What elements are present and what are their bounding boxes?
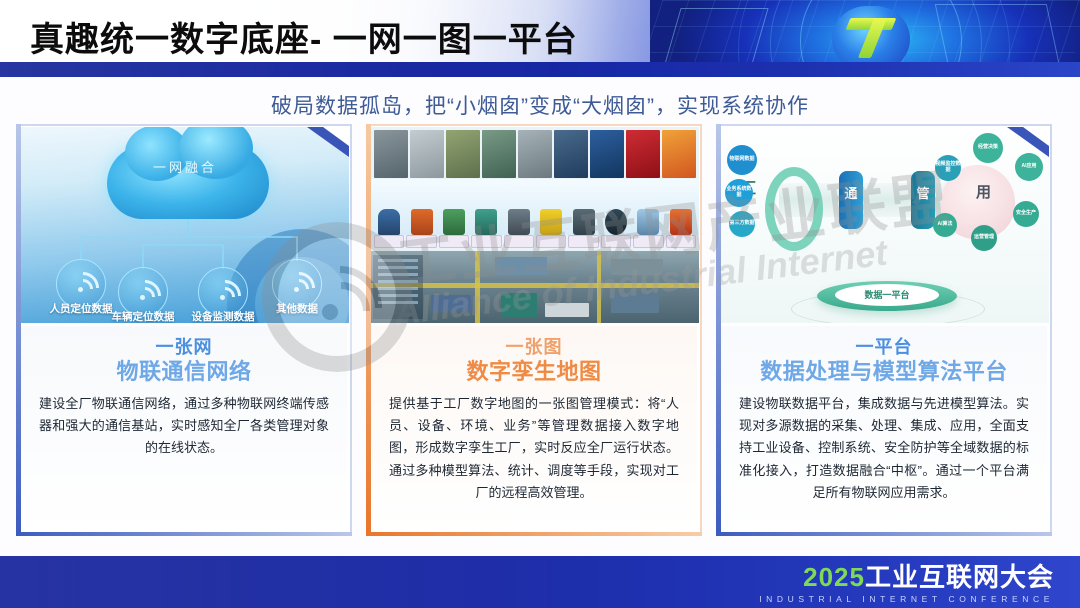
source-bubble-business: 业务系统数据 (725, 179, 753, 207)
card-text-one-map: 一张图 数字孪生地图 提供基于工厂数字地图的一张图管理模式：将“人员、设备、环境… (371, 326, 697, 532)
entity-icon-warning (536, 209, 566, 235)
stage-cylinder-connect: 通 (839, 171, 863, 229)
entity-label (406, 235, 436, 248)
page-title: 真趣统一数字底座- 一网一图一平台 (30, 12, 578, 61)
entity-label (439, 235, 469, 248)
entity-icon-machine (406, 209, 436, 235)
conference-logo: 2025工业互联网大会 INDUSTRIAL INTERNET CONFEREN… (759, 564, 1054, 604)
entity-icon-factory (439, 209, 469, 235)
entity-label (568, 235, 598, 248)
map-info-panel (373, 255, 423, 319)
entity-icon-camera (568, 209, 598, 235)
digital-twin-map-screenshot (371, 127, 699, 323)
cloud-label: 一网融合 (21, 157, 349, 176)
entity-icon-person-badge (601, 209, 631, 235)
data-pipeline-diagram: 汇 通 管 用 物联网数据 业务系统数据 第三方数据 视频监控数据 AI算法 经… (721, 127, 1049, 323)
card-title-small: 一平台 (739, 336, 1029, 359)
card-title-small: 一张网 (39, 336, 329, 359)
source-bubble-thirdparty: 第三方数据 (729, 211, 755, 237)
card-title-small: 一张图 (389, 336, 679, 359)
card-title-large: 数字孪生地图 (389, 358, 679, 386)
card-text-one-network: 一张网 物联通信网络 建设全厂物联通信网络，通过多种物联网终端传感器和强大的通信… (21, 326, 347, 532)
conference-year: 2025 (803, 562, 865, 592)
card-title-large: 数据处理与模型算法平台 (739, 358, 1029, 386)
app-bubble-decision: 经营决策 (973, 133, 1003, 163)
entity-icon-worker (374, 209, 404, 235)
stage-label-manage: 管 (911, 183, 935, 202)
app-bubble-ai: AI算法 (933, 213, 957, 237)
entity-label (471, 235, 501, 248)
header-band-sheen (0, 62, 560, 77)
twin-map-view (371, 251, 699, 323)
card-body-text: 建设物联数据平台，集成数据与先进模型算法。实现对多源数据的采集、处理、集成、应用… (739, 393, 1029, 505)
entity-label (601, 235, 631, 248)
entity-label (666, 235, 696, 248)
entity-label (374, 235, 404, 248)
platform-disc: 数据一平台 (817, 281, 957, 311)
brand-t-logo-icon (846, 14, 904, 62)
stage-cylinder-manage: 管 (911, 171, 935, 229)
wifi-icon (283, 272, 311, 296)
card-body-text: 提供基于工厂数字地图的一张图管理模式：将“人员、设备、环境、业务”等管理数据接入… (389, 393, 679, 505)
entity-icon-row (371, 179, 699, 235)
corner-accent-notch (1023, 127, 1049, 146)
card-one-platform[interactable]: 汇 通 管 用 物联网数据 业务系统数据 第三方数据 视频监控数据 AI算法 经… (716, 124, 1052, 536)
corner-accent-notch (323, 127, 349, 146)
card-title-large: 物联通信网络 (39, 358, 329, 386)
wifi-icon (209, 280, 237, 304)
stage-label-apply: 用 (976, 181, 991, 202)
network-node-label-other: 其他数据 (247, 301, 347, 316)
entity-icon-heatmap (666, 209, 696, 235)
entity-icon-sensor (633, 209, 663, 235)
slide-footer: 2025工业互联网大会 INDUSTRIAL INTERNET CONFEREN… (0, 556, 1080, 608)
card-one-network[interactable]: 一网融合 人员定位数据 车辆定位数据 设备监测 (16, 124, 352, 536)
card-figure-one-platform: 汇 通 管 用 物联网数据 业务系统数据 第三方数据 视频监控数据 AI算法 经… (721, 127, 1049, 323)
card-figure-one-network: 一网融合 人员定位数据 车辆定位数据 设备监测 (21, 127, 349, 323)
card-one-map[interactable]: 一张图 数字孪生地图 提供基于工厂数字地图的一张图管理模式：将“人员、设备、环境… (366, 124, 702, 536)
entity-label (536, 235, 566, 248)
wifi-icon (67, 272, 95, 296)
entity-label (633, 235, 663, 248)
wifi-icon (129, 280, 157, 304)
source-bubble-iot: 物联网数据 (727, 145, 757, 175)
stage-label-connect: 通 (839, 183, 863, 202)
entity-label-row (371, 235, 699, 249)
card-row: 一网融合 人员定位数据 车辆定位数据 设备监测 (0, 124, 1080, 536)
cloud-network-diagram: 一网融合 人员定位数据 车辆定位数据 设备监测 (21, 127, 349, 323)
conference-name-cn: 工业互联网大会 (865, 562, 1054, 592)
app-bubble-operations: 运营管理 (971, 225, 997, 251)
stage-ring-collect (765, 167, 823, 251)
conference-name-en: INDUSTRIAL INTERNET CONFERENCE (759, 594, 1054, 604)
entity-icon-vehicle (504, 209, 534, 235)
entity-label (504, 235, 534, 248)
card-body-text: 建设全厂物联通信网络，通过多种物联网终端传感器和强大的通信基站，实时感知全厂各类… (39, 393, 329, 460)
card-text-one-platform: 一平台 数据处理与模型算法平台 建设物联数据平台，集成数据与先进模型算法。实现对… (721, 326, 1047, 532)
app-bubble-aiapp: AI应用 (1015, 153, 1043, 181)
slide-subtitle: 破局数据孤岛，把“小烟囱”变成“大烟囱”，实现系统协作 (0, 90, 1080, 120)
card-figure-one-map (371, 127, 699, 323)
entity-icon-equipment (471, 209, 501, 235)
app-bubble-safety: 安全生产 (1013, 201, 1039, 227)
source-bubble-video: 视频监控数据 (935, 155, 961, 181)
platform-label: 数据一平台 (817, 288, 957, 301)
thumbnail-strip (374, 130, 696, 178)
slide-root: 真趣统一数字底座- 一网一图一平台 破局数据孤岛，把“小烟囱”变成“大烟囱”，实… (0, 0, 1080, 608)
